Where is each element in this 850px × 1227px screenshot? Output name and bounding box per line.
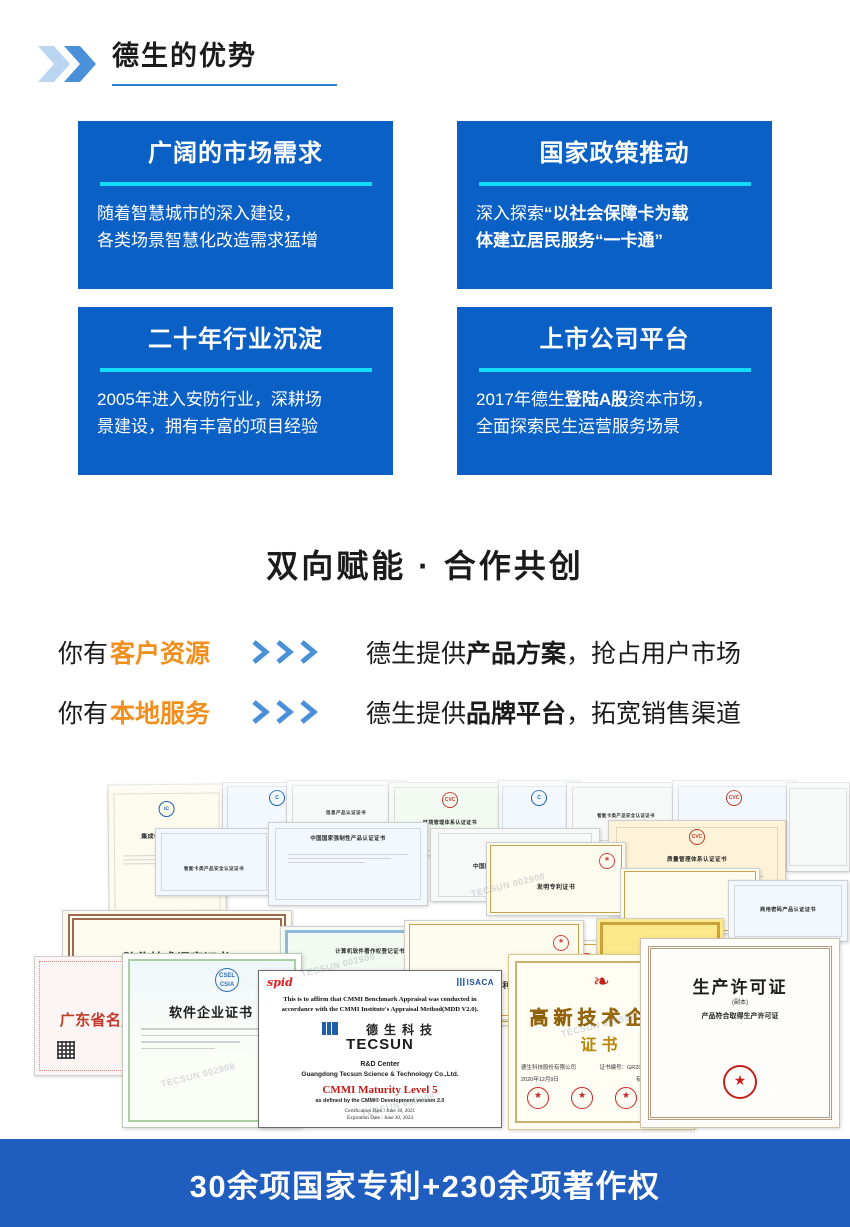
certificate-thumb: 发明专利证书 [486, 842, 626, 916]
flame-icon: ❧ [593, 969, 610, 994]
csel-csia-logo-icon: CSELCSIA [215, 968, 239, 992]
card-body-line: 深入探索“以社会保障卡为载 [476, 200, 753, 227]
card-body: 2005年进入安防行业，深耕场 景建设，拥有丰富的项目经验 [94, 386, 377, 440]
dual-right-bold: 产品方案 [466, 634, 566, 670]
certificate-thumb: 智能卡类产品安全认证证书 [155, 828, 273, 896]
card-body-line: 随着智慧城市的深入建设， [97, 200, 374, 227]
isaca-mark-icon [457, 978, 465, 986]
card-divider [100, 182, 372, 186]
cmmi-rnd-center: R&D Center [259, 1061, 501, 1068]
red-seal-icon [615, 1087, 637, 1109]
triple-chevron-icon [250, 690, 320, 734]
card-body-bold: 登陆A股 [565, 390, 628, 409]
cert-title: 中国国家强制性产品认证证书 [269, 834, 427, 842]
hitech-company: 德生科技股份有限公司 [521, 1063, 576, 1071]
dual-row-local-service: 你有 本地服务 德生提供品牌平台，拓宽销售渠道 [0, 690, 850, 734]
dual-right-suffix: ，拓宽销售渠道 [566, 694, 741, 730]
red-seal-icon [571, 1087, 593, 1109]
production-licence-body: 产品符合取得生产许可证 [641, 1011, 839, 1021]
dual-left-prefix: 你有 [58, 634, 108, 670]
cert-title: 商用密码产品认证证书 [729, 906, 847, 913]
collage-top-fade [0, 770, 850, 796]
cert-title: 智能卡类产品安全认证证书 [156, 866, 272, 872]
card-title: 国家政策推动 [473, 139, 756, 169]
card-body-tail: 资本市场， [628, 390, 713, 409]
card-title: 上市公司平台 [473, 325, 756, 355]
card-title: 二十年行业沉淀 [94, 325, 377, 355]
card-body-plain: 2017年德生 [476, 390, 565, 409]
card-body-bold: “以社会保障卡为载 [544, 204, 689, 223]
dual-left-prefix: 你有 [58, 694, 108, 730]
certificate-thumb: 商用密码产品认证证书 [728, 880, 848, 942]
advantage-card-listed-company: 上市公司平台 2017年德生登陆A股资本市场， 全面探索民生运营服务场景 [457, 307, 772, 475]
dual-empower-rows: 你有 客户资源 德生提供产品方案，抢占用户市场 你有 本地服务 [0, 630, 850, 750]
production-licence-subtitle: (副本) [641, 997, 839, 1006]
production-licence-title: 生产许可证 [641, 973, 839, 998]
tecsun-logo-icon [322, 1022, 338, 1035]
footer-banner: 30余项国家专利+230余项著作权 [0, 1139, 850, 1227]
hitech-date: 2020年12月9日 [521, 1075, 559, 1083]
cmmi-maturity-level: CMMI Maturity Level 5 [259, 1084, 501, 1096]
cmmi-as-defined: as defined by the CMMI® Development vers… [259, 1098, 501, 1104]
card-body-line: 各类场景智慧化改造需求猛增 [97, 227, 374, 254]
advantage-cards: 广阔的市场需求 随着智慧城市的深入建设， 各类场景智慧化改造需求猛增 国家政策推… [0, 121, 850, 476]
red-seal-icon [527, 1087, 549, 1109]
card-body-line: 2005年进入安防行业，深耕场 [97, 386, 374, 413]
card-body-plain: 深入探索 [476, 204, 544, 223]
card-body-line: 体建立居民服务“一卡通” [476, 227, 753, 254]
cert-logo-icon: IC [158, 801, 174, 817]
dual-row-left: 你有 客户资源 [58, 630, 210, 674]
tecsun-brand-cn: 德生科技 [342, 1023, 438, 1037]
dual-left-highlight: 客户资源 [110, 634, 210, 670]
dual-empower-title: 双向赋能 · 合作共创 [0, 541, 850, 587]
tecsun-brand: 德生科技 TECSUN [259, 1021, 501, 1053]
cmmi-expiration-date: Expiration Date : June 30, 2024 [259, 1115, 501, 1122]
cmmi-company-name: Guangdong Tecsun Science & Technology Co… [259, 1071, 501, 1078]
isaca-label: ISACA [467, 978, 494, 987]
card-divider [100, 368, 372, 372]
dual-left-highlight: 本地服务 [110, 694, 210, 730]
production-licence-certificate: 生产许可证 (副本) 产品符合取得生产许可证 [640, 938, 840, 1128]
card-body: 2017年德生登陆A股资本市场， 全面探索民生运营服务场景 [473, 386, 756, 440]
cert-title: 质量管理体系认证证书 [609, 855, 785, 863]
card-body: 随着智慧城市的深入建设， 各类场景智慧化改造需求猛增 [94, 200, 377, 254]
page-root: 德生的优势 广阔的市场需求 随着智慧城市的深入建设， 各类场景智慧化改造需求猛增… [0, 0, 850, 1227]
chevron-group [38, 44, 110, 84]
cmmi-dates: Certification Date : June 30, 2021 Expir… [259, 1108, 501, 1122]
certificate-collage: IC 集成电路卡认证书 C 信息产品认证证书 CVC 环境管理体系认证证书 C … [0, 770, 850, 1138]
card-body-bold: 体建立居民服务“一卡通” [476, 231, 663, 250]
dual-row-left: 你有 本地服务 [58, 690, 210, 734]
card-body-line: 景建设，拥有丰富的项目经验 [97, 413, 374, 440]
advantage-card-industry-experience: 二十年行业沉淀 2005年进入安防行业，深耕场 景建设，拥有丰富的项目经验 [78, 307, 393, 475]
advantage-card-national-policy: 国家政策推动 深入探索“以社会保障卡为载 体建立居民服务“一卡通” [457, 121, 772, 289]
cmmi-affirmation-text: This is to affirm that CMMI Benchmark Ap… [269, 995, 491, 1015]
chevron-right-icon-dark [64, 44, 98, 84]
cmmi-certificate: spid ISACA This is to affirm that CMMI B… [258, 970, 502, 1128]
advantage-card-market-demand: 广阔的市场需求 随着智慧城市的深入建设， 各类场景智慧化改造需求猛增 [78, 121, 393, 289]
dual-right-prefix: 德生提供 [366, 634, 466, 670]
card-divider [479, 368, 751, 372]
software-cert-title: 软件企业证书 [169, 1002, 253, 1021]
cmmi-certification-date: Certification Date : June 30, 2021 [259, 1108, 501, 1115]
isaca-logo: ISACA [457, 978, 494, 987]
card-body-line: 全面探索民生运营服务场景 [476, 413, 753, 440]
page-title: 德生的优势 [112, 36, 257, 76]
card-body-line: 2017年德生登陆A股资本市场， [476, 386, 753, 413]
cert-title: 发明专利证书 [487, 882, 625, 891]
tecsun-brand-en: TECSUN [259, 1036, 501, 1053]
section-header: 德生的优势 [0, 36, 850, 92]
title-underline [112, 84, 337, 86]
dual-right-bold: 品牌平台 [466, 694, 566, 730]
card-body: 深入探索“以社会保障卡为载 体建立居民服务“一卡通” [473, 200, 756, 254]
triple-chevron-icon [250, 630, 320, 674]
dual-right-suffix: ，抢占用户市场 [566, 634, 741, 670]
cert-title: 智能卡类产品安全认证证书 [567, 813, 685, 819]
dual-right-prefix: 德生提供 [366, 694, 466, 730]
card-divider [479, 182, 751, 186]
dual-row-right: 德生提供产品方案，抢占用户市场 [366, 630, 741, 674]
certificate-thumb: 中国国家强制性产品认证证书 [268, 822, 428, 906]
footer-text: 30余项国家专利+230余项著作权 [190, 1161, 661, 1206]
dual-row-right: 德生提供品牌平台，拓宽销售渠道 [366, 690, 741, 734]
spid-logo: spid [267, 976, 293, 989]
red-seal-icon [723, 1065, 757, 1099]
card-title: 广阔的市场需求 [94, 139, 377, 169]
dual-row-customer-resource: 你有 客户资源 德生提供产品方案，抢占用户市场 [0, 630, 850, 674]
cert-logo-icon: CVC [689, 829, 705, 845]
